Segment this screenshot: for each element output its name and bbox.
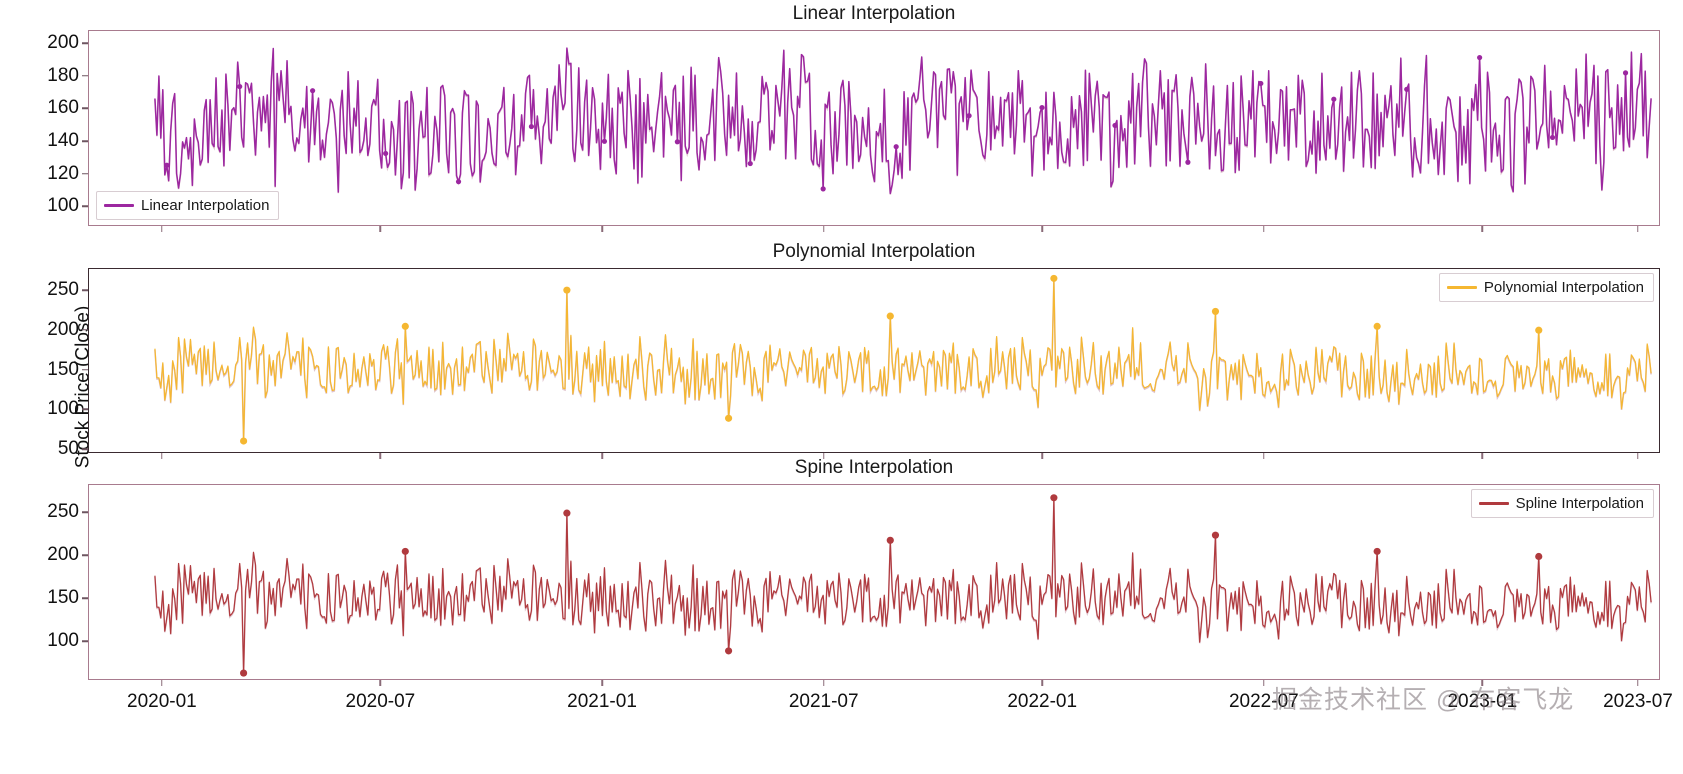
x-tick-mark — [1482, 680, 1484, 686]
x-tick-mark — [1041, 226, 1043, 232]
legend-swatch-2 — [1479, 502, 1509, 505]
figure-canvas: Stock Price (Close) Linear Interpolation… — [0, 0, 1683, 774]
plot-area-2 — [88, 484, 1660, 680]
legend-0[interactable]: Linear Interpolation — [96, 191, 279, 220]
x-tick-mark — [161, 680, 163, 686]
x-tick-mark — [1637, 680, 1639, 686]
y-tick-mark — [82, 108, 88, 110]
y-tick-mark — [82, 75, 88, 77]
x-tick-mark — [601, 226, 603, 232]
panel-title-2: Spine Interpolation — [88, 457, 1660, 479]
y-tick-mark — [82, 206, 88, 208]
x-tick-mark — [1263, 226, 1265, 232]
y-tick-mark — [82, 140, 88, 142]
subplot-linear-interpolation: Linear Interpolation 100120140160180200 … — [88, 30, 1660, 226]
x-tick-mark — [380, 680, 382, 686]
y-tick-mark — [82, 512, 88, 514]
legend-label-1: Polynomial Interpolation — [1484, 279, 1644, 296]
y-tick-mark — [82, 409, 88, 411]
y-tick-mark — [82, 329, 88, 331]
plot-area-0 — [88, 30, 1660, 226]
panel-title-1: Polynomial Interpolation — [88, 241, 1660, 263]
x-tick-mark — [1041, 680, 1043, 686]
legend-swatch-0 — [104, 204, 134, 207]
subplot-polynomial-interpolation: Polynomial Interpolation 50100150200250 … — [88, 268, 1660, 453]
x-tick-mark — [380, 226, 382, 232]
watermark: 掘金技术社区 @ 布客飞龙 — [1272, 680, 1574, 716]
series-line-0 — [89, 31, 1659, 225]
y-tick-mark — [82, 42, 88, 44]
x-tick-mark — [601, 680, 603, 686]
y-tick-mark — [82, 598, 88, 600]
panel-title-0: Linear Interpolation — [88, 3, 1660, 25]
y-tick-mark — [82, 369, 88, 371]
y-tick-mark — [82, 555, 88, 557]
legend-2[interactable]: Spline Interpolation — [1471, 489, 1654, 518]
y-tick-mark — [82, 173, 88, 175]
legend-label-0: Linear Interpolation — [141, 197, 269, 214]
y-tick-mark — [82, 289, 88, 291]
legend-1[interactable]: Polynomial Interpolation — [1439, 273, 1654, 302]
x-tick-mark — [1482, 226, 1484, 232]
legend-label-2: Spline Interpolation — [1516, 495, 1644, 512]
subplot-spline-interpolation: Spine Interpolation 100150200250 2020-01… — [88, 484, 1660, 680]
series-line-2 — [89, 485, 1659, 679]
x-tick-mark — [1263, 680, 1265, 686]
series-line-1 — [89, 269, 1659, 452]
x-tick-mark — [823, 680, 825, 686]
y-tick-mark — [82, 641, 88, 643]
x-tick-mark — [161, 226, 163, 232]
plot-area-1 — [88, 268, 1660, 453]
y-tick-mark — [82, 448, 88, 450]
legend-swatch-1 — [1447, 286, 1477, 289]
x-tick-mark — [1637, 226, 1639, 232]
x-tick-mark — [823, 226, 825, 232]
